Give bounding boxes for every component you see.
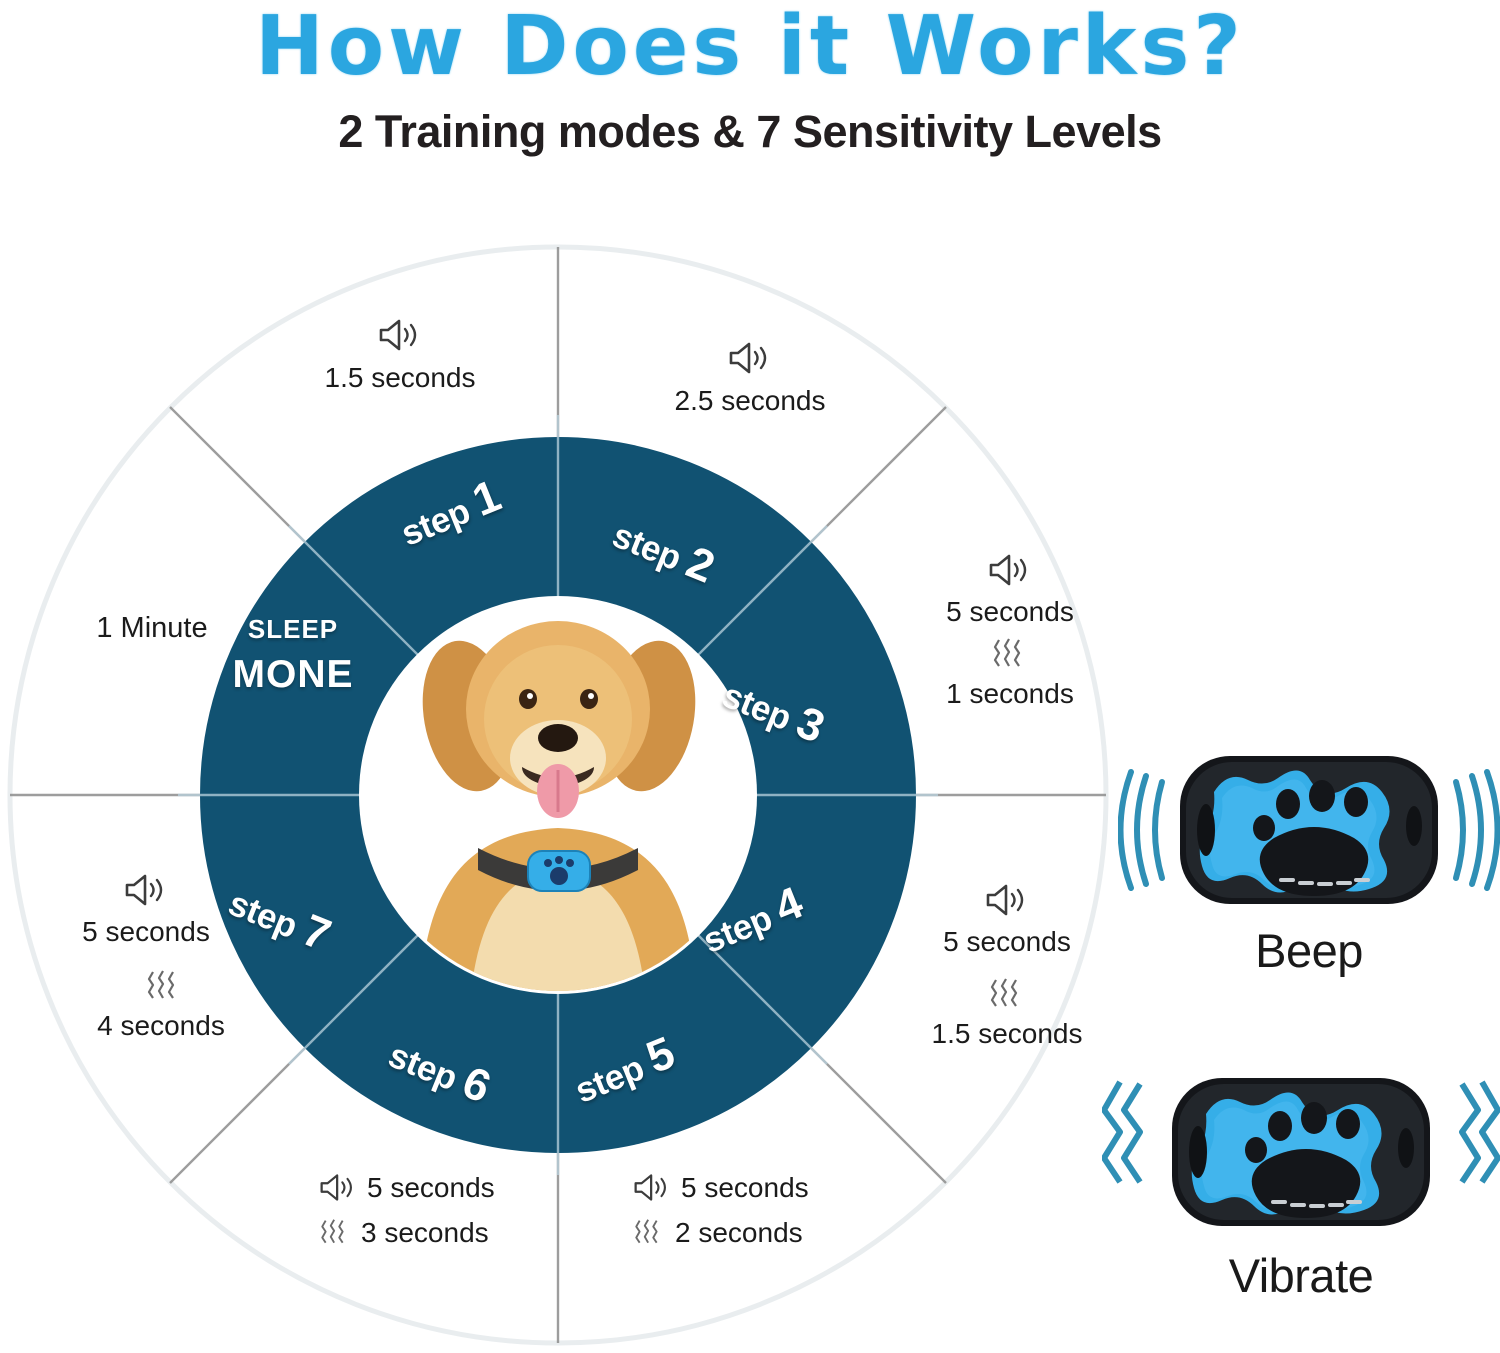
arc-sound-waves-right [1456, 772, 1498, 888]
beep-duration-text: 5 seconds [367, 1174, 495, 1202]
vibrate-duration-text: 1 seconds [900, 680, 1120, 708]
vibrate-duration-text: 1.5 seconds [892, 1020, 1122, 1048]
speaker-icon [318, 1172, 358, 1203]
vibrate-row: 2 seconds [632, 1217, 809, 1248]
vibration-icon [144, 968, 184, 1004]
device-vibrate-visual [1102, 1070, 1500, 1242]
device-beep-caption: Beep [1118, 923, 1500, 978]
speaker-icon [987, 552, 1033, 588]
outer-label-step3: 5 seconds 1 seconds [900, 552, 1120, 708]
vibration-icon [990, 636, 1030, 672]
vibration-icon [318, 1217, 352, 1248]
outer-label-step2: 2.5 seconds [640, 340, 860, 415]
beep-row: 5 seconds [318, 1172, 495, 1203]
sleep-duration-text: 1 Minute [62, 612, 242, 645]
header: How Does it Works? 2 Training modes & 7 … [0, 0, 1500, 158]
wheel-graphic [0, 222, 1130, 1352]
speaker-icon [377, 317, 423, 353]
vibrate-row: 3 seconds [318, 1217, 495, 1248]
beep-duration-text: 2.5 seconds [640, 387, 860, 415]
beep-duration-text: 5 seconds [892, 928, 1122, 956]
outer-label-step7: 5 seconds 4 seconds [36, 872, 256, 1040]
device-beep: Beep [1118, 742, 1500, 978]
beep-duration-text: 5 seconds [36, 918, 256, 946]
device-vibrate: Vibrate [1102, 1070, 1500, 1303]
page-subtitle: 2 Training modes & 7 Sensitivity Levels [0, 106, 1500, 158]
bark-collar-device-beep [1118, 742, 1500, 917]
beep-duration-text: 1.5 seconds [290, 364, 510, 392]
vibration-icon [632, 1217, 666, 1248]
collar-device-small [528, 851, 590, 891]
beep-duration-text: 5 seconds [900, 598, 1120, 626]
outer-label-step4: 5 seconds 1.5 seconds [892, 882, 1122, 1048]
outer-label-step1: 1.5 seconds [290, 317, 510, 392]
device-vibrate-caption: Vibrate [1102, 1248, 1500, 1303]
beep-duration-text: 5 seconds [681, 1174, 809, 1202]
how-it-works-wheel: step1 step2 step3 step4 step5 step6 step… [0, 222, 1130, 1352]
vibrate-duration-text: 4 seconds [66, 1012, 256, 1040]
outer-label-step5: 5 seconds 2 seconds [632, 1172, 809, 1248]
speaker-icon [984, 882, 1030, 918]
beep-row: 5 seconds [632, 1172, 809, 1203]
page-title: How Does it Works? [0, 6, 1500, 88]
outer-label-sleep: 1 Minute [62, 612, 242, 645]
arc-sound-waves-left [1121, 772, 1163, 888]
zigzag-vibration-waves-left [1104, 1082, 1140, 1182]
zigzag-vibration-waves-right [1462, 1082, 1498, 1182]
bark-collar-device-vibrate [1102, 1070, 1500, 1242]
vibration-icon [987, 976, 1027, 1012]
outer-label-step6: 5 seconds 3 seconds [318, 1172, 495, 1248]
speaker-icon [632, 1172, 672, 1203]
sleep-mode-name: MONE [188, 653, 398, 697]
speaker-icon [123, 872, 169, 908]
speaker-icon [727, 340, 773, 376]
vibrate-duration-text: 3 seconds [361, 1219, 489, 1247]
vibrate-duration-text: 2 seconds [675, 1219, 803, 1247]
device-beep-visual [1118, 742, 1500, 917]
